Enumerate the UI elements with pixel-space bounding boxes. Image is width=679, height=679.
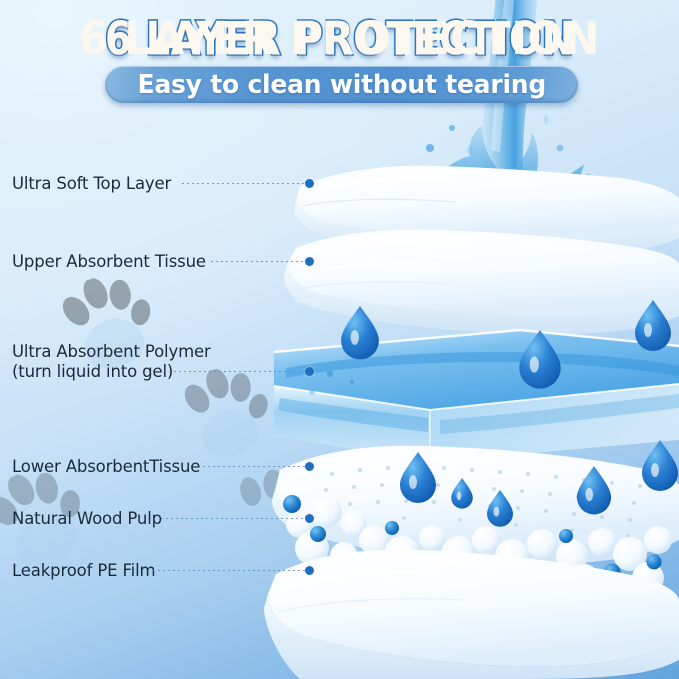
subtitle-text: Easy to clean without tearing: [137, 70, 546, 100]
callout-leader-line: [203, 466, 307, 467]
page-title: 6 LAYER PROTECTION: [105, 14, 574, 64]
callout-dot: [305, 367, 314, 376]
headline-block: 6 LAYER PROTECTION 6 LAYER PROTECTION: [0, 14, 679, 64]
callout-label: Upper Absorbent Tissue: [12, 252, 206, 272]
product-infographic: 6 LAYER PROTECTION 6 LAYER PROTECTION Ea…: [0, 0, 679, 679]
callout-natural-wood-pulp: Natural Wood Pulp: [12, 509, 162, 529]
callout-dot: [305, 257, 314, 266]
callout-label: Lower AbsorbentTissue: [12, 457, 200, 477]
callout-leader-line: [211, 261, 307, 262]
layer-ultra-absorbent-polymer: [274, 330, 679, 462]
callout-dot: [305, 179, 314, 188]
water-droplet-icon: [220, 300, 678, 527]
layer-ultra-soft-top-layer: [294, 166, 679, 257]
paw-print-watermark: [226, 466, 319, 564]
callout-leader-line: [169, 371, 306, 372]
callout-leader-line: [161, 518, 307, 519]
callout-leakproof-pe-film: Leakproof PE Film: [12, 561, 155, 581]
callout-label-line2: (turn liquid into gel): [12, 362, 211, 382]
callout-label: Natural Wood Pulp: [12, 509, 162, 529]
callout-dot: [305, 514, 314, 523]
callout-ultra-soft-top-layer: Ultra Soft Top Layer: [12, 174, 171, 194]
callout-dot: [305, 462, 314, 471]
callout-leader-line: [153, 570, 307, 571]
subtitle-pill: Easy to clean without tearing: [105, 66, 578, 103]
water-splash-icon: [402, 125, 600, 229]
callout-lower-absorbent-tissue: Lower AbsorbentTissue: [12, 457, 200, 477]
callout-label: Leakproof PE Film: [12, 561, 155, 581]
callout-label: Ultra Soft Top Layer: [12, 174, 171, 194]
layer-natural-wood-pulp: [283, 495, 672, 629]
layer-leakproof-pe-film: [264, 550, 679, 679]
layer-lower-absorbent-tissue: [272, 446, 679, 565]
callout-ultra-absorbent-polymer: Ultra Absorbent Polymer(turn liquid into…: [12, 342, 211, 382]
callout-label: Ultra Absorbent Polymer(turn liquid into…: [12, 342, 211, 382]
callout-leader-line: [182, 183, 306, 184]
layer-upper-absorbent-tissue: [284, 230, 679, 335]
callout-upper-absorbent-tissue: Upper Absorbent Tissue: [12, 252, 206, 272]
callout-dot: [305, 566, 314, 575]
